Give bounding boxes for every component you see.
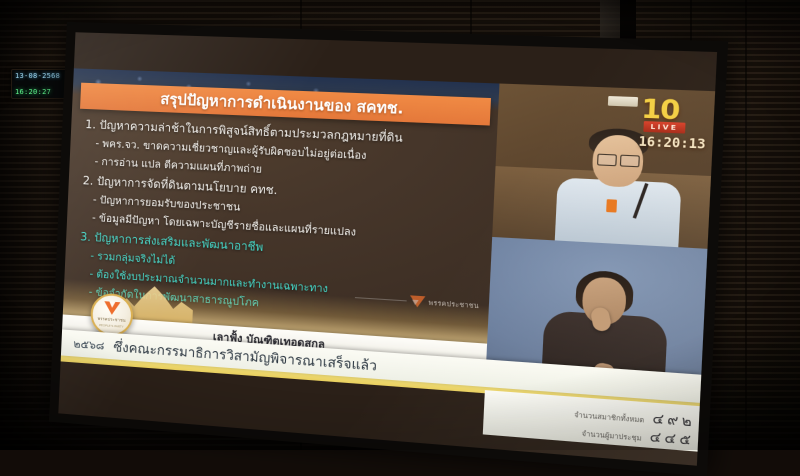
ticker-year: ๒๕๖๘ (73, 334, 105, 354)
emblem-triangle-icon (104, 301, 121, 315)
channel-logo-bar (608, 96, 638, 107)
projection-screen: สรุปปัญหาการดำเนินงานของ สคทช. 1. ปัญหาค… (49, 22, 728, 476)
led-clock-date: 13-08-2568 (15, 72, 63, 80)
led-clock-time: 16:20:27 (15, 88, 63, 96)
broadcast-timestamp: 16:20:13 (638, 134, 706, 152)
count-value: ๔๔๕ (649, 425, 695, 451)
speaker-badge (606, 199, 617, 212)
live-badge: LIVE (643, 121, 685, 133)
count-label: จำนวนผู้มาประชุม (582, 427, 642, 444)
speaker-video-panel: 10 LIVE 16:20:13 (492, 84, 717, 250)
speaker-body (555, 178, 682, 250)
screen-content: สรุปปัญหาการดำเนินงานของ สคทช. 1. ปัญหาค… (58, 32, 717, 465)
glasses-icon (597, 154, 640, 166)
led-clock-display: 13-08-2568 16:20:27 (11, 69, 67, 99)
emblem-sublabel: PEOPLE'S PARTY (99, 323, 124, 329)
